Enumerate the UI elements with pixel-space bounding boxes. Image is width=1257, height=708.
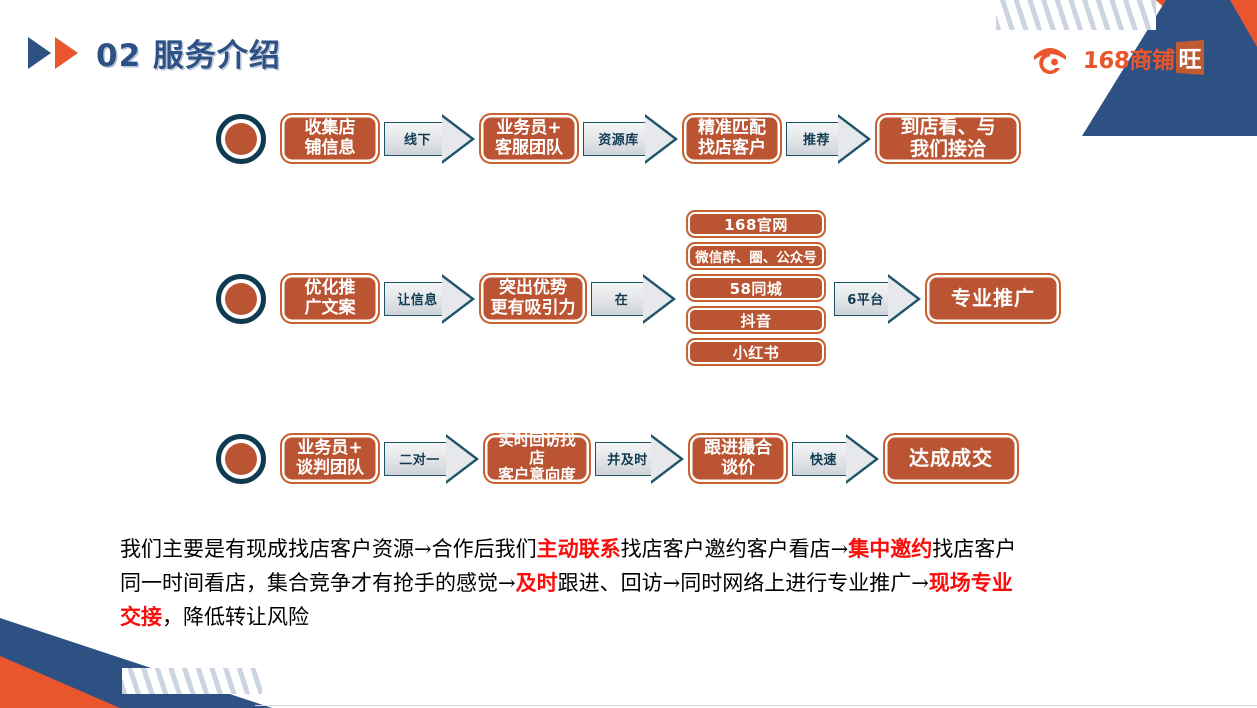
platform-label: 58同城 xyxy=(730,278,783,299)
node-line: 到店看、与 xyxy=(900,116,995,138)
arrow-label: 6平台 xyxy=(847,289,884,308)
footer-divider xyxy=(255,705,1257,706)
brand-logo: 168商铺 旺 xyxy=(1030,40,1204,75)
platform-item-douyin[interactable]: 抖音 xyxy=(686,306,826,334)
arrow-label: 推荐 xyxy=(803,129,830,148)
slide-header: 02 服务介绍 xyxy=(28,30,281,75)
node-line: 实时回访找店 xyxy=(498,431,576,466)
flow-node-sales-negotiation-team[interactable]: 业务员+ 谈判团队 xyxy=(280,433,380,484)
paragraph-segment: 我们主要是有现成找店客户资源→合作后我们 xyxy=(120,537,537,561)
flow-node-precise-match-customers[interactable]: 精准匹配 找店客户 xyxy=(682,113,782,164)
node-line: 收集店 xyxy=(305,118,356,138)
node-line: 谈判团队 xyxy=(296,458,364,478)
paragraph-segment: 跟进、回访→同时网络上进行专业推广→ xyxy=(558,571,929,595)
shop-awning-icon xyxy=(1030,42,1070,74)
node-line: 突出优势 xyxy=(499,278,567,298)
node-line: 谈价 xyxy=(721,458,755,478)
step-bullet xyxy=(216,434,266,484)
platform-item-58tongcheng[interactable]: 58同城 xyxy=(686,274,826,302)
flow-node-highlight-advantage[interactable]: 突出优势 更有吸引力 xyxy=(479,273,587,324)
platform-label: 168官网 xyxy=(724,214,788,235)
platform-label: 小红书 xyxy=(733,342,780,363)
platform-item-168-official-site[interactable]: 168官网 xyxy=(686,210,826,238)
step-bullet xyxy=(216,114,266,164)
flow-arrow-two-to-one: 二对一 xyxy=(384,442,479,476)
flow-arrow-resource-pool: 资源库 xyxy=(583,122,678,156)
node-line: 业务员+ xyxy=(496,118,561,138)
flow-arrow-recommend: 推荐 xyxy=(786,122,871,156)
arrow-label: 并及时 xyxy=(607,449,648,468)
node-line: 跟进撮合 xyxy=(704,438,772,458)
arrow-label: 快速 xyxy=(810,449,837,468)
platform-item-xiaohongshu[interactable]: 小红书 xyxy=(686,338,826,366)
flow-node-realtime-followup-intent[interactable]: 实时回访找店 客户意向度 xyxy=(483,433,591,484)
logo-wordmark: 168商铺 旺 xyxy=(1083,40,1204,75)
node-line: 广文案 xyxy=(305,298,356,318)
logo-text-boxed: 旺 xyxy=(1176,40,1205,75)
node-line: 找店客户 xyxy=(698,138,766,158)
platform-list: 168官网 微信群、圈、公众号 58同城 抖音 小红书 xyxy=(686,210,826,366)
node-label: 专业推广 xyxy=(951,287,1035,309)
paragraph-highlight: 及时 xyxy=(516,570,558,595)
page-title: 02 服务介绍 xyxy=(96,30,281,75)
node-line: 优化推 xyxy=(305,278,356,298)
arrow-label: 资源库 xyxy=(598,129,639,148)
node-line: 更有吸引力 xyxy=(491,298,576,318)
paragraph-segment: 找店客户邀约客户看店→ xyxy=(621,537,849,561)
node-line: 铺信息 xyxy=(305,138,356,158)
node-line: 我们接洽 xyxy=(910,138,986,160)
paragraph-segment: ，降低转让风险 xyxy=(162,605,309,629)
stripe-decoration-top-right xyxy=(996,0,1156,30)
flow-node-visit-and-contact[interactable]: 到店看、与 我们接洽 xyxy=(875,113,1021,164)
arrow-label: 在 xyxy=(615,289,629,308)
flow-node-collect-shop-info[interactable]: 收集店 铺信息 xyxy=(280,113,380,164)
arrow-label: 二对一 xyxy=(399,449,440,468)
flow-arrow-six-platforms: 6平台 xyxy=(834,282,921,316)
flow-row-3: 业务员+ 谈判团队 二对一 实时回访找店 客户意向度 并及时 跟进撮合 谈价 快… xyxy=(216,433,1019,484)
flow-node-optimize-copy[interactable]: 优化推 广文案 xyxy=(280,273,380,324)
summary-paragraph: 我们主要是有现成找店客户资源→合作后我们主动联系找店客户邀约客户看店→集中邀约找… xyxy=(120,532,1030,634)
flow-node-close-deal[interactable]: 达成成交 xyxy=(883,433,1019,484)
arrow-label: 线下 xyxy=(404,129,431,148)
triangle-navy-icon xyxy=(28,37,51,69)
node-line: 客户意向度 xyxy=(498,466,576,484)
stripe-decoration-bottom-left xyxy=(122,668,262,694)
flow-arrow-fast: 快速 xyxy=(792,442,879,476)
flow-arrow-at: 在 xyxy=(591,282,676,316)
flow-node-followup-negotiate-price[interactable]: 跟进撮合 谈价 xyxy=(688,433,788,484)
arrow-label: 让信息 xyxy=(397,289,438,308)
node-line: 精准匹配 xyxy=(698,118,766,138)
triangle-orange-icon xyxy=(55,37,78,69)
flow-row-2: 优化推 广文案 让信息 突出优势 更有吸引力 在 6平台 专业推广 xyxy=(216,273,1061,324)
flow-arrow-and-timely: 并及时 xyxy=(595,442,684,476)
platform-item-wechat[interactable]: 微信群、圈、公众号 xyxy=(686,242,826,270)
flow-arrow-let-info: 让信息 xyxy=(384,282,475,316)
logo-text-plain: 168商铺 xyxy=(1082,41,1175,75)
paragraph-highlight: 主动联系 xyxy=(537,536,621,561)
node-line: 业务员+ xyxy=(297,438,362,458)
node-label: 达成成交 xyxy=(909,447,993,469)
flow-node-sales-service-team[interactable]: 业务员+ 客服团队 xyxy=(479,113,579,164)
flow-node-professional-promotion[interactable]: 专业推广 xyxy=(925,273,1061,324)
platform-label: 微信群、圈、公众号 xyxy=(695,246,817,266)
step-bullet xyxy=(216,274,266,324)
flow-arrow-offline: 线下 xyxy=(384,122,475,156)
platform-label: 抖音 xyxy=(740,310,771,331)
flow-row-1: 收集店 铺信息 线下 业务员+ 客服团队 资源库 精准匹配 找店客户 推荐 xyxy=(216,113,1021,164)
paragraph-highlight: 集中邀约 xyxy=(848,536,932,561)
node-line: 客服团队 xyxy=(495,138,563,158)
